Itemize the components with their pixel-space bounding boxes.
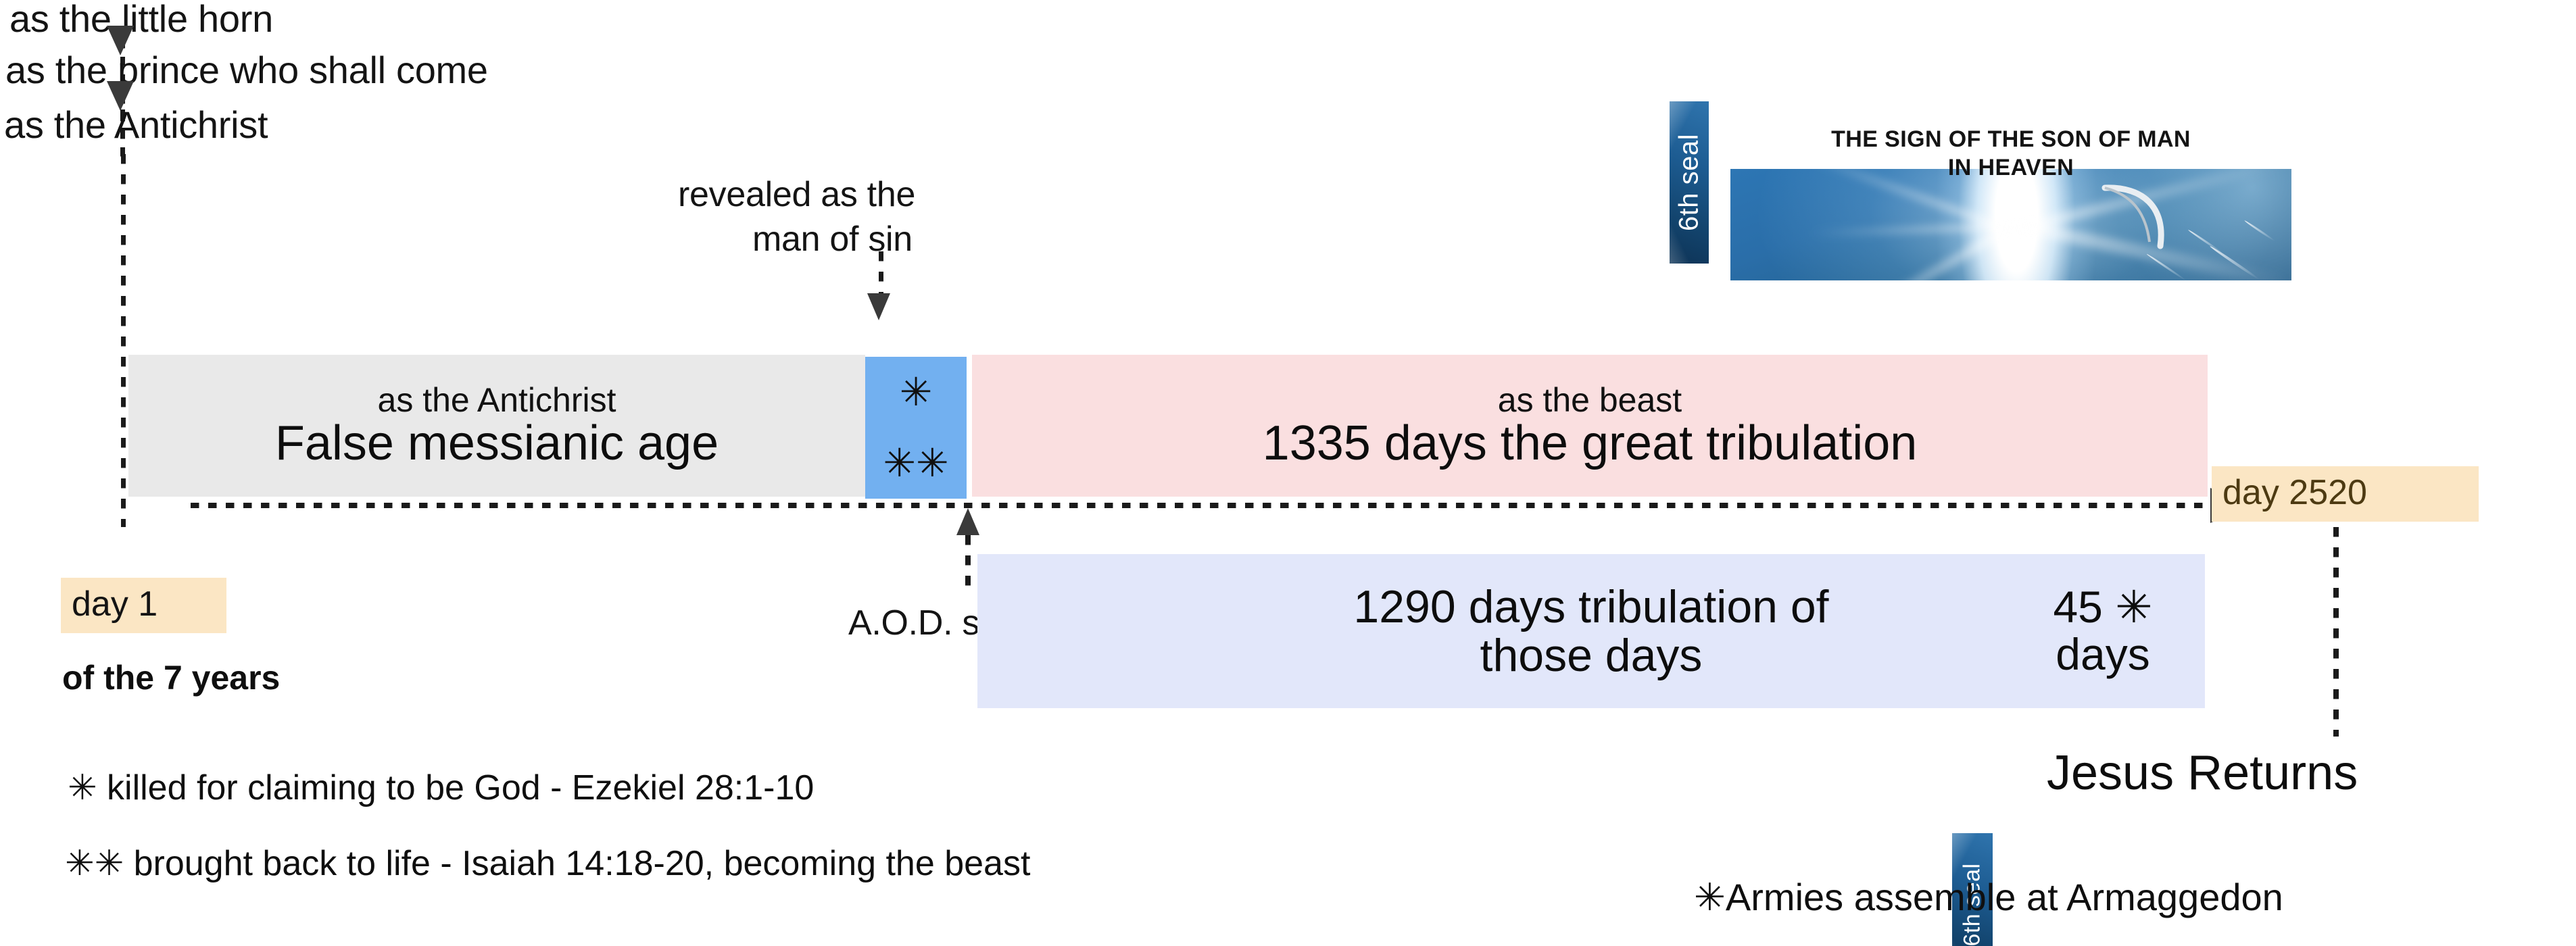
footnote-two: ✳✳ brought back to life - Isaiah 14:18-2… bbox=[65, 846, 1030, 881]
sign-of-son-of-man-image bbox=[1730, 169, 2291, 280]
day2520-vertical-guide bbox=[2333, 527, 2339, 737]
label-of-the-7-years: of the 7 years bbox=[62, 661, 280, 695]
bar-45-days: 45 ✳ days bbox=[2001, 554, 2205, 708]
marker-asterisk-double: ✳✳ bbox=[883, 444, 948, 483]
bar-false-messianic-age: as the Antichrist False messianic age bbox=[128, 355, 865, 497]
sixth-seal-strip-upper: 6th seal bbox=[1670, 101, 1709, 264]
chip-day-1: day 1 bbox=[61, 578, 226, 633]
sickle-icon bbox=[2095, 180, 2183, 254]
footnote-three: ✳Armies assemble at Armaggedon bbox=[1694, 878, 2283, 916]
callout-man-of-sin-line1: revealed as the bbox=[678, 177, 915, 212]
bar-false-messianic-age-sublabel: as the Antichrist bbox=[378, 382, 616, 418]
day1-vertical-guide bbox=[121, 154, 126, 527]
bar-great-tribulation: as the beast 1335 days the great tribula… bbox=[972, 355, 2208, 497]
callout-man-of-sin-connector bbox=[879, 251, 883, 293]
bar-45-days-label-line2: days bbox=[2056, 631, 2149, 678]
aod-connector bbox=[965, 535, 971, 589]
bar-death-and-resurrection-marker: ✳ ✳✳ bbox=[865, 357, 967, 499]
prophecy-timeline-diagram: as the little horn as the prince who sha… bbox=[0, 0, 2576, 946]
aod-arrow-icon bbox=[956, 508, 979, 535]
chain-label-antichrist: as the Antichrist bbox=[4, 106, 268, 144]
bar-1290-days-label-line2: those days bbox=[1480, 631, 1703, 680]
sixth-seal-strip-upper-label: 6th seal bbox=[1674, 134, 1705, 231]
sign-image-caption-line1: THE SIGN OF THE SON OF MAN bbox=[1730, 126, 2291, 153]
meteor-streak-icon bbox=[2244, 220, 2275, 242]
chip-day-2520: day 2520 bbox=[2212, 466, 2479, 522]
label-jesus-returns: Jesus Returns bbox=[2047, 749, 2358, 797]
meteor-streak-icon bbox=[2187, 229, 2223, 254]
bar-false-messianic-age-label: False messianic age bbox=[275, 418, 719, 469]
callout-man-of-sin-line2: man of sin bbox=[752, 222, 913, 257]
sign-image-caption-line2: IN HEAVEN bbox=[1730, 154, 2291, 182]
main-timeline-dotted-line bbox=[191, 503, 2216, 508]
light-ray-icon bbox=[1810, 223, 2013, 236]
marker-asterisk-single: ✳ bbox=[900, 373, 933, 412]
footnote-one: ✳ killed for claiming to be God - Ezekie… bbox=[68, 770, 814, 805]
chain-label-little-horn: as the little horn bbox=[9, 0, 273, 38]
bar-great-tribulation-sublabel: as the beast bbox=[1498, 382, 1682, 418]
bar-1290-days-label-line1: 1290 days tribulation of bbox=[1353, 582, 1828, 631]
bar-45-days-label-line1: 45 ✳ bbox=[2053, 584, 2152, 631]
callout-man-of-sin-arrow-icon bbox=[867, 293, 890, 320]
chain-label-prince: as the prince who shall come bbox=[5, 51, 488, 89]
bar-great-tribulation-label: 1335 days the great tribulation bbox=[1263, 418, 1918, 469]
